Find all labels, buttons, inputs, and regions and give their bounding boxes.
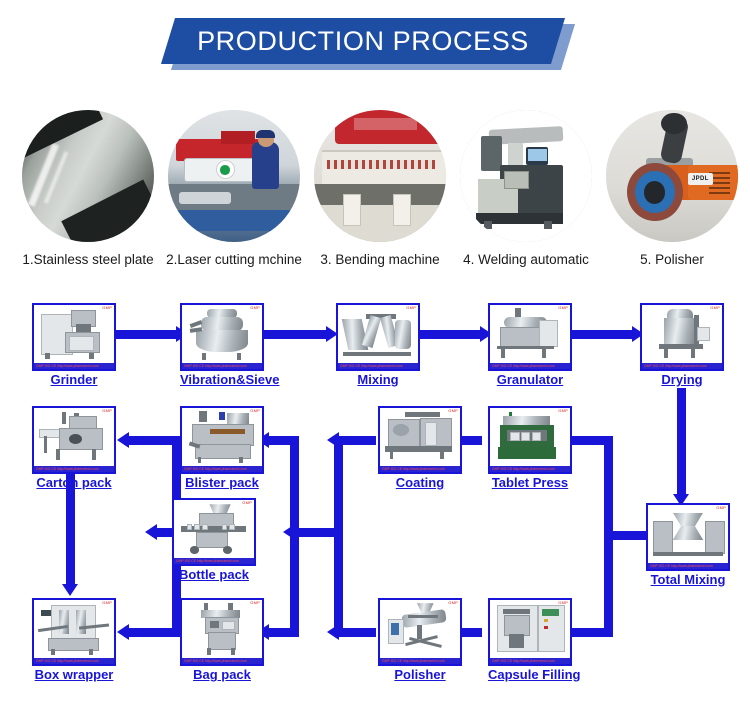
equipment-item-2: 2.Laser cutting mchine [168,110,300,242]
watermark-bar: GMP ISO CE http://www.pharmamch.com [642,363,722,369]
node-label-capsule-filling: Capsule Filling [488,667,572,682]
node-granulator[interactable]: GMP GMP ISO CE http://www.pharmamch.com … [488,303,572,387]
connector-sieve-to-mixing [262,330,328,339]
production-process-infographic: PRODUCTION PROCESS 1.Stainless steel pla… [0,0,750,706]
connector-mixing-to-granulator [420,330,482,339]
stainless-steel-plate-photo [22,110,154,242]
bus-secondary-vertical [290,436,299,637]
node-label-bottle-pack: Bottle pack [172,567,256,582]
node-label-grinder: Grinder [32,372,116,387]
arrow-to-carton-pack [117,432,129,448]
watermark-corner: GMP [710,306,720,310]
node-blister-pack[interactable]: GMP GMP ISO CE http://www.pharmamch.com … [180,406,264,490]
node-mixing[interactable]: GMP GMP ISO CE http://www.pharmamch.com … [336,303,420,387]
node-capsule-filling[interactable]: GMP GMP ISO CE http://www.pharmamch.com … [488,598,572,682]
node-label-coating: Coating [378,475,462,490]
equipment-item-3: 3. Bending machine [314,110,446,242]
node-grinder[interactable]: GMP GMP ISO CE http://www.pharmamch.com … [32,303,116,387]
node-label-polisher: Polisher [378,667,462,682]
connector-grinder-to-sieve [116,330,178,339]
node-vibration-sieve[interactable]: GMP GMP ISO CE http://www.pharmamch.com … [180,303,264,387]
connector-bus-to-box-wrapper [124,628,176,637]
node-label-bag-pack: Bag pack [180,667,264,682]
node-label-box-wrapper: Box wrapper [32,667,116,682]
watermark-corner: GMP [242,501,252,505]
watermark-corner: GMP [448,601,458,605]
node-carton-pack[interactable]: GMP GMP ISO CE http://www.pharmamch.com … [32,406,116,490]
bus-total-mixing-down [604,531,613,637]
page-title-banner: PRODUCTION PROCESS [168,18,568,70]
equipment-caption-2: 2.Laser cutting mchine [166,252,302,267]
watermark-corner: GMP [102,601,112,605]
node-drying[interactable]: GMP GMP ISO CE http://www.pharmamch.com … [640,303,724,387]
page-title: PRODUCTION PROCESS [168,18,558,64]
watermark-corner: GMP [558,409,568,413]
watermark-corner: GMP [102,409,112,413]
polisher-photo: JPDL [606,110,738,242]
watermark-bar: GMP ISO CE http://www.pharmamch.com [174,558,254,564]
connector-bus-to-carton-pack [124,436,176,445]
node-label-total-mixing: Total Mixing [646,572,730,587]
process-flowchart: GMP GMP ISO CE http://www.pharmamch.com … [0,288,750,706]
connector-granulator-to-drying [572,330,634,339]
node-label-drying: Drying [640,372,724,387]
node-bag-pack[interactable]: GMP GMP ISO CE http://www.pharmamch.com … [180,598,264,682]
watermark-bar: GMP ISO CE http://www.pharmamch.com [490,466,570,472]
watermark-corner: GMP [102,306,112,310]
equipment-caption-1: 1.Stainless steel plate [22,252,153,267]
node-box-wrapper[interactable]: GMP GMP ISO CE http://www.pharmamch.com … [32,598,116,682]
connector-bus-to-bag-pack [264,628,299,637]
polisher-brand-mark: JPDL [688,173,713,185]
equipment-item-5: JPDL 5. Polisher [606,110,738,242]
node-label-carton-pack: Carton pack [32,475,116,490]
arrow-to-box-wrapper [117,624,129,640]
arrow-carton-pack-to-box-wrapper [62,584,78,596]
watermark-corner: GMP [448,409,458,413]
watermark-bar: GMP ISO CE http://www.pharmamch.com [182,363,262,369]
laser-cutting-machine-photo [168,110,300,242]
node-label-vibration-sieve: Vibration&Sieve [180,372,264,387]
node-label-mixing: Mixing [336,372,420,387]
watermark-bar: GMP ISO CE http://www.pharmamch.com [182,658,262,664]
watermark-bar: GMP ISO CE http://www.pharmamch.com [490,363,570,369]
arrow-to-bottle-pack [145,524,157,540]
watermark-bar: GMP ISO CE http://www.pharmamch.com [34,658,114,664]
equipment-item-4: 4. Welding automatic [460,110,592,242]
watermark-bar: GMP ISO CE http://www.pharmamch.com [34,363,114,369]
watermark-bar: GMP ISO CE http://www.pharmamch.com [490,658,570,664]
equipment-caption-4: 4. Welding automatic [463,252,589,267]
equipment-item-1: 1.Stainless steel plate [22,110,154,242]
connector-bus-to-blister-pack [264,436,299,445]
bus-total-mixing-vertical [604,436,613,540]
connector-drying-to-total-mixing [677,388,686,498]
watermark-corner: GMP [716,506,726,510]
node-bottle-pack[interactable]: GMP GMP ISO CE http://www.pharmamch.com … [172,498,256,582]
watermark-bar: GMP ISO CE http://www.pharmamch.com [34,466,114,472]
welding-automatic-photo [460,110,592,242]
watermark-bar: GMP ISO CE http://www.pharmamch.com [380,466,460,472]
equipment-caption-3: 3. Bending machine [320,252,439,267]
node-coating[interactable]: GMP GMP ISO CE http://www.pharmamch.com … [378,406,462,490]
node-polisher-node[interactable]: GMP GMP ISO CE http://www.pharmamch.com … [378,598,462,682]
node-label-granulator: Granulator [488,372,572,387]
watermark-corner: GMP [250,601,260,605]
node-label-tablet-press: Tablet Press [488,475,572,490]
watermark-bar: GMP ISO CE http://www.pharmamch.com [648,563,728,569]
watermark-bar: GMP ISO CE http://www.pharmamch.com [380,658,460,664]
node-tablet-press[interactable]: GMP GMP ISO CE http://www.pharmamch.com … [488,406,572,490]
node-total-mixing[interactable]: GMP GMP ISO CE http://www.pharmamch.com … [646,503,730,587]
node-label-blister-pack: Blister pack [180,475,264,490]
watermark-corner: GMP [406,306,416,310]
watermark-bar: GMP ISO CE http://www.pharmamch.com [182,466,262,472]
watermark-corner: GMP [250,306,260,310]
watermark-corner: GMP [250,409,260,413]
watermark-corner: GMP [558,306,568,310]
bending-machine-photo [314,110,446,242]
equipment-caption-5: 5. Polisher [640,252,704,267]
watermark-bar: GMP ISO CE http://www.pharmamch.com [338,363,418,369]
watermark-corner: GMP [558,601,568,605]
